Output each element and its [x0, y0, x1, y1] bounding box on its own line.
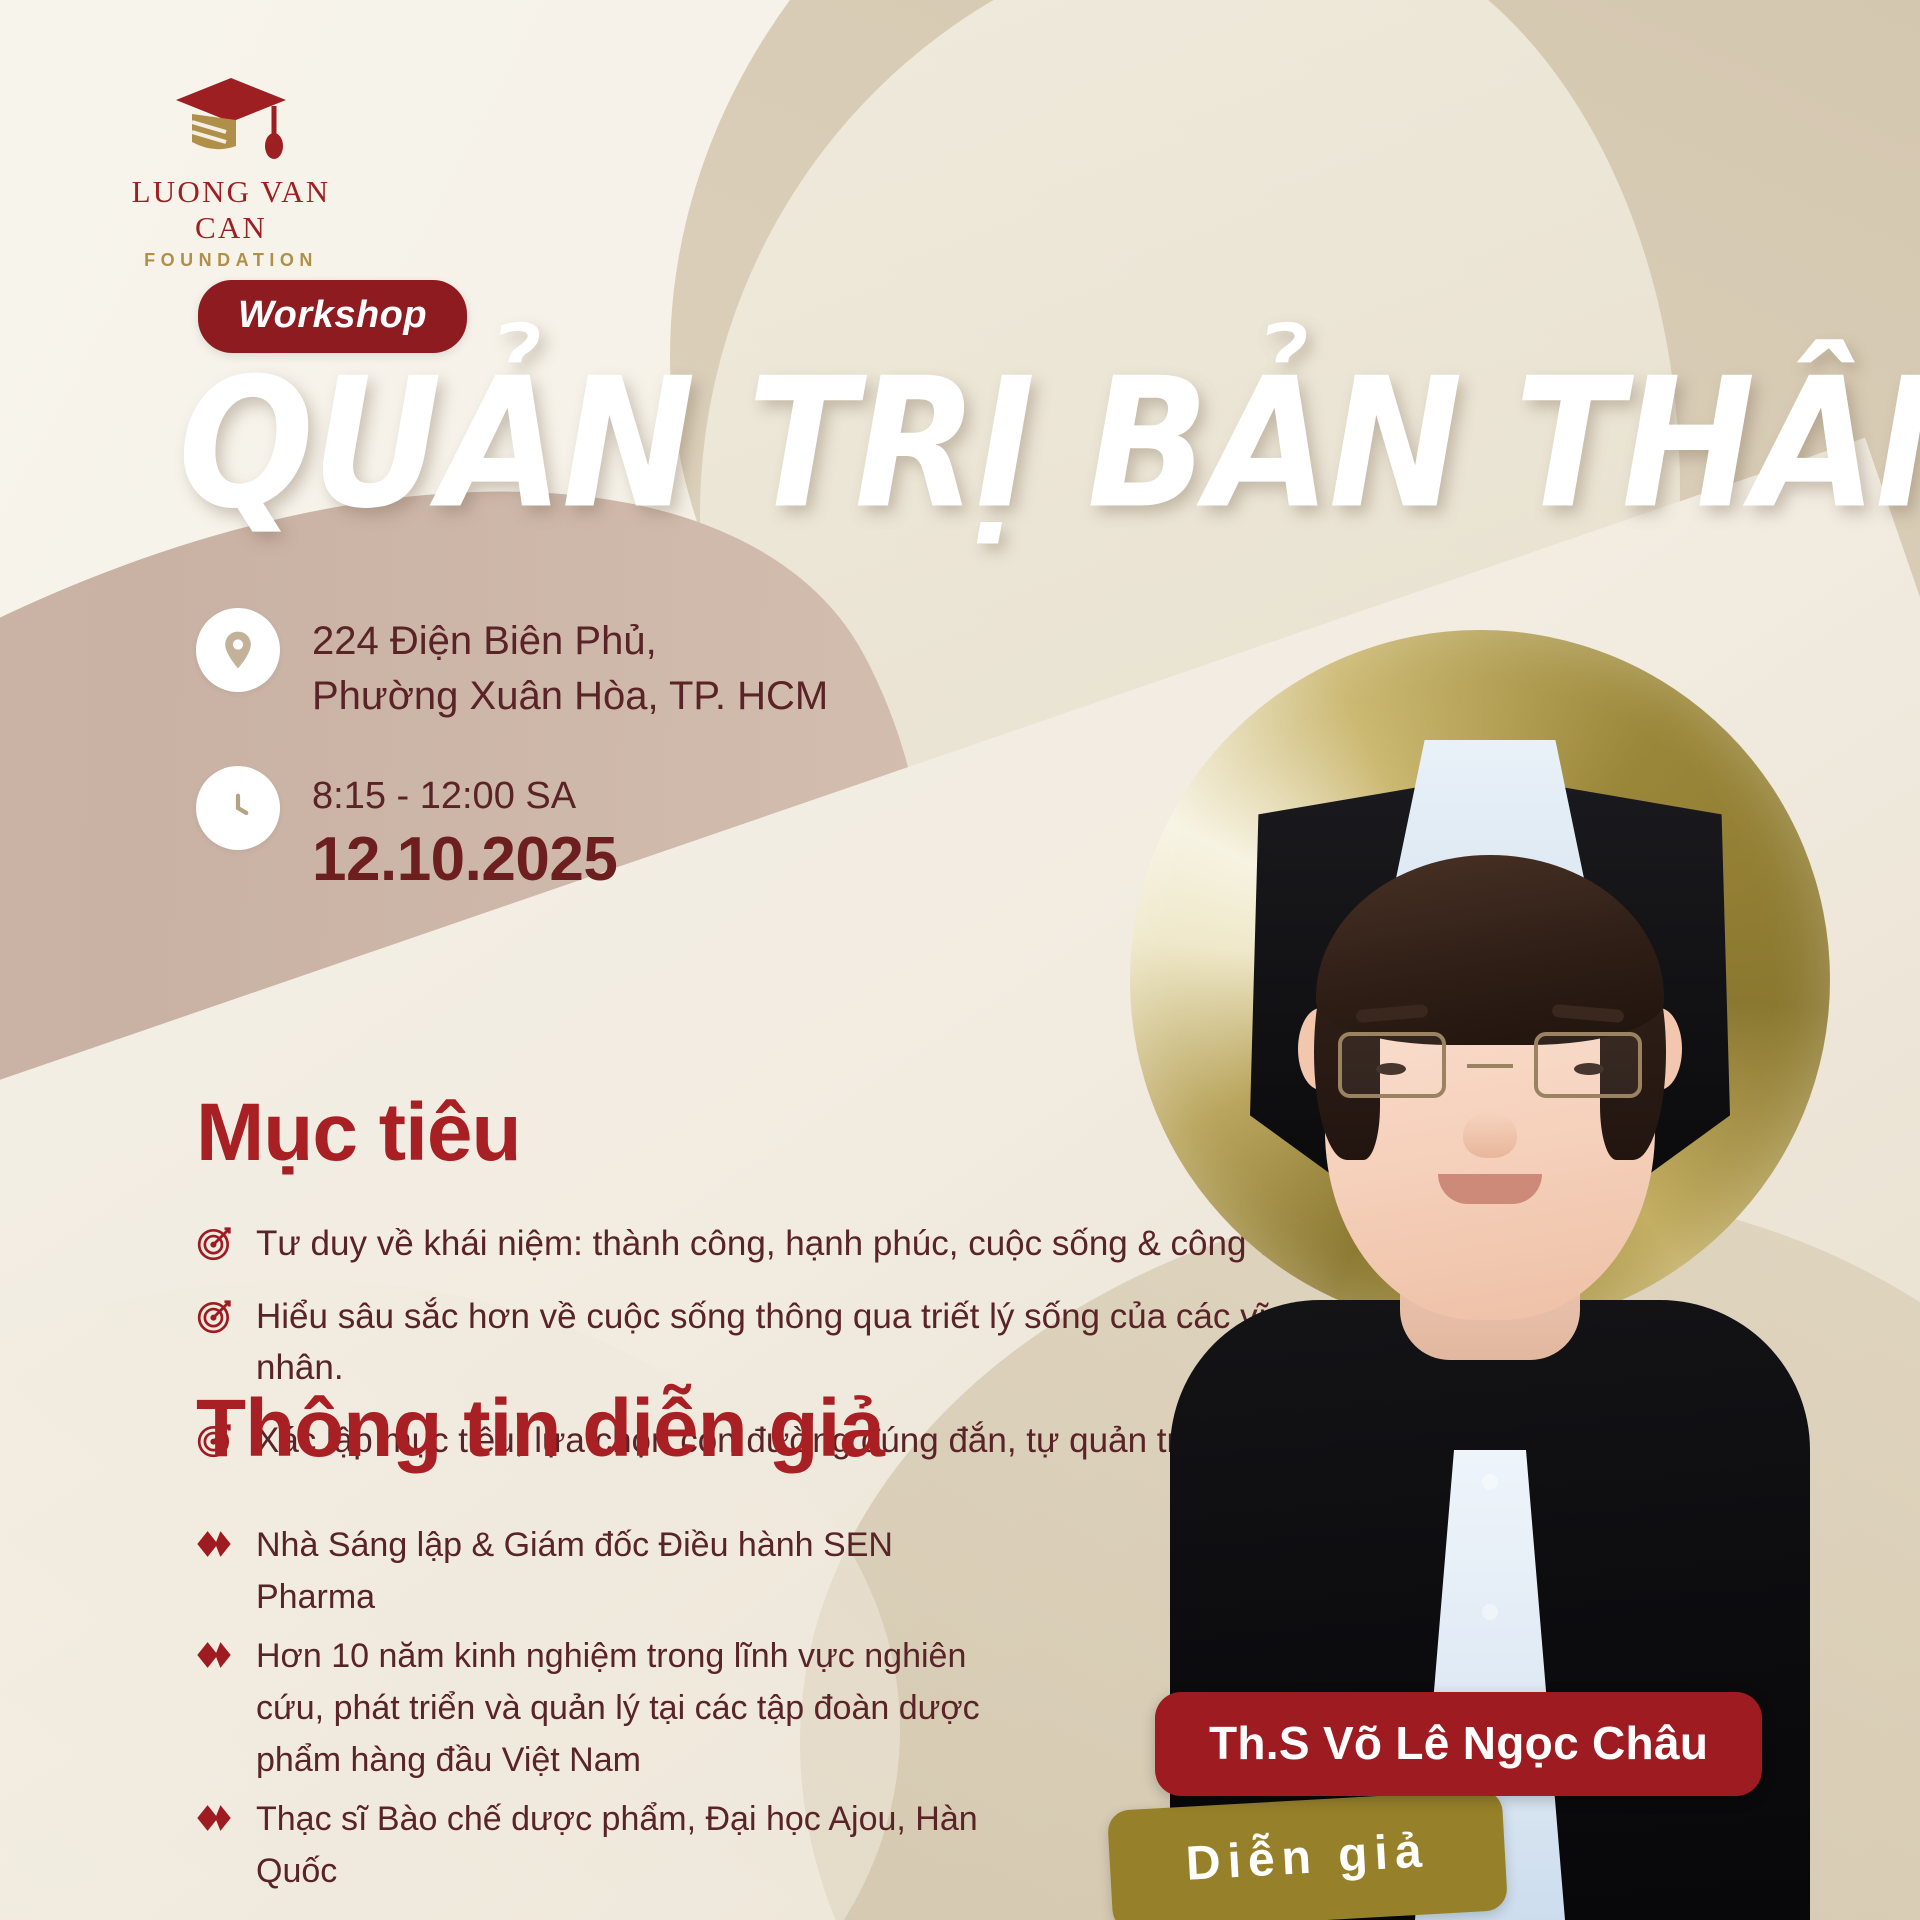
glasses-lens-right: [1534, 1032, 1642, 1098]
list-item-text: Nhà Sáng lập & Giám đốc Điều hành SEN Ph…: [256, 1520, 1016, 1623]
list-item: Nhà Sáng lập & Giám đốc Điều hành SEN Ph…: [196, 1520, 1016, 1623]
event-info: 224 Điện Biên Phủ, Phường Xuân Hòa, TP. …: [196, 608, 828, 937]
clock-icon-circle: [196, 766, 280, 850]
nose: [1463, 1112, 1517, 1158]
shirt-button: [1482, 1474, 1498, 1490]
location-pin-icon: [216, 628, 260, 672]
list-item-text: Thạc sĩ Bào chế dược phẩm, Đại học Ajou,…: [256, 1794, 1016, 1897]
organization-logo: LUONG VAN CAN FOUNDATION: [96, 62, 366, 271]
list-item-text: Hơn 10 năm kinh nghiệm trong lĩnh vực ng…: [256, 1631, 1016, 1786]
goals-heading: Mục tiêu: [196, 1088, 521, 1178]
double-diamond-icon: [196, 1794, 242, 1841]
event-time: 8:15 - 12:00 SA: [312, 772, 617, 821]
clock-icon: [215, 785, 261, 831]
page-title: QUẢN TRỊ BẢN THÂN: [178, 352, 1878, 535]
speaker-role-badge: Diễn giả: [1107, 1789, 1508, 1920]
speaker-info-heading: Thông tin diễn giả: [196, 1384, 884, 1474]
list-item: Thạc sĩ Bào chế dược phẩm, Đại học Ajou,…: [196, 1794, 1016, 1897]
schedule-row: 8:15 - 12:00 SA 12.10.2025: [196, 766, 828, 895]
target-icon: [196, 1291, 242, 1340]
address-line-1: 224 Điện Biên Phủ,: [312, 614, 828, 669]
address-line-2: Phường Xuân Hòa, TP. HCM: [312, 669, 828, 724]
graduation-cap-icon: [156, 62, 306, 172]
poster-canvas: LUONG VAN CAN FOUNDATION Workshop QUẢN T…: [0, 0, 1920, 1920]
double-diamond-icon: [196, 1520, 242, 1567]
shirt-button: [1482, 1604, 1498, 1620]
double-diamond-icon: [196, 1631, 242, 1678]
mouth: [1438, 1174, 1542, 1204]
glasses-bridge: [1467, 1064, 1513, 1068]
event-date: 12.10.2025: [312, 824, 617, 895]
logo-subtitle: FOUNDATION: [96, 250, 366, 271]
location-icon-circle: [196, 608, 280, 692]
location-row: 224 Điện Biên Phủ, Phường Xuân Hòa, TP. …: [196, 608, 828, 724]
speaker-info-list: Nhà Sáng lập & Giám đốc Điều hành SEN Ph…: [196, 1520, 1016, 1906]
glasses-lens-left: [1338, 1032, 1446, 1098]
logo-name: LUONG VAN CAN: [96, 174, 366, 246]
target-icon: [196, 1218, 242, 1267]
speaker-name-badge: Th.S Võ Lê Ngọc Châu: [1155, 1692, 1762, 1796]
list-item: Hơn 10 năm kinh nghiệm trong lĩnh vực ng…: [196, 1631, 1016, 1786]
